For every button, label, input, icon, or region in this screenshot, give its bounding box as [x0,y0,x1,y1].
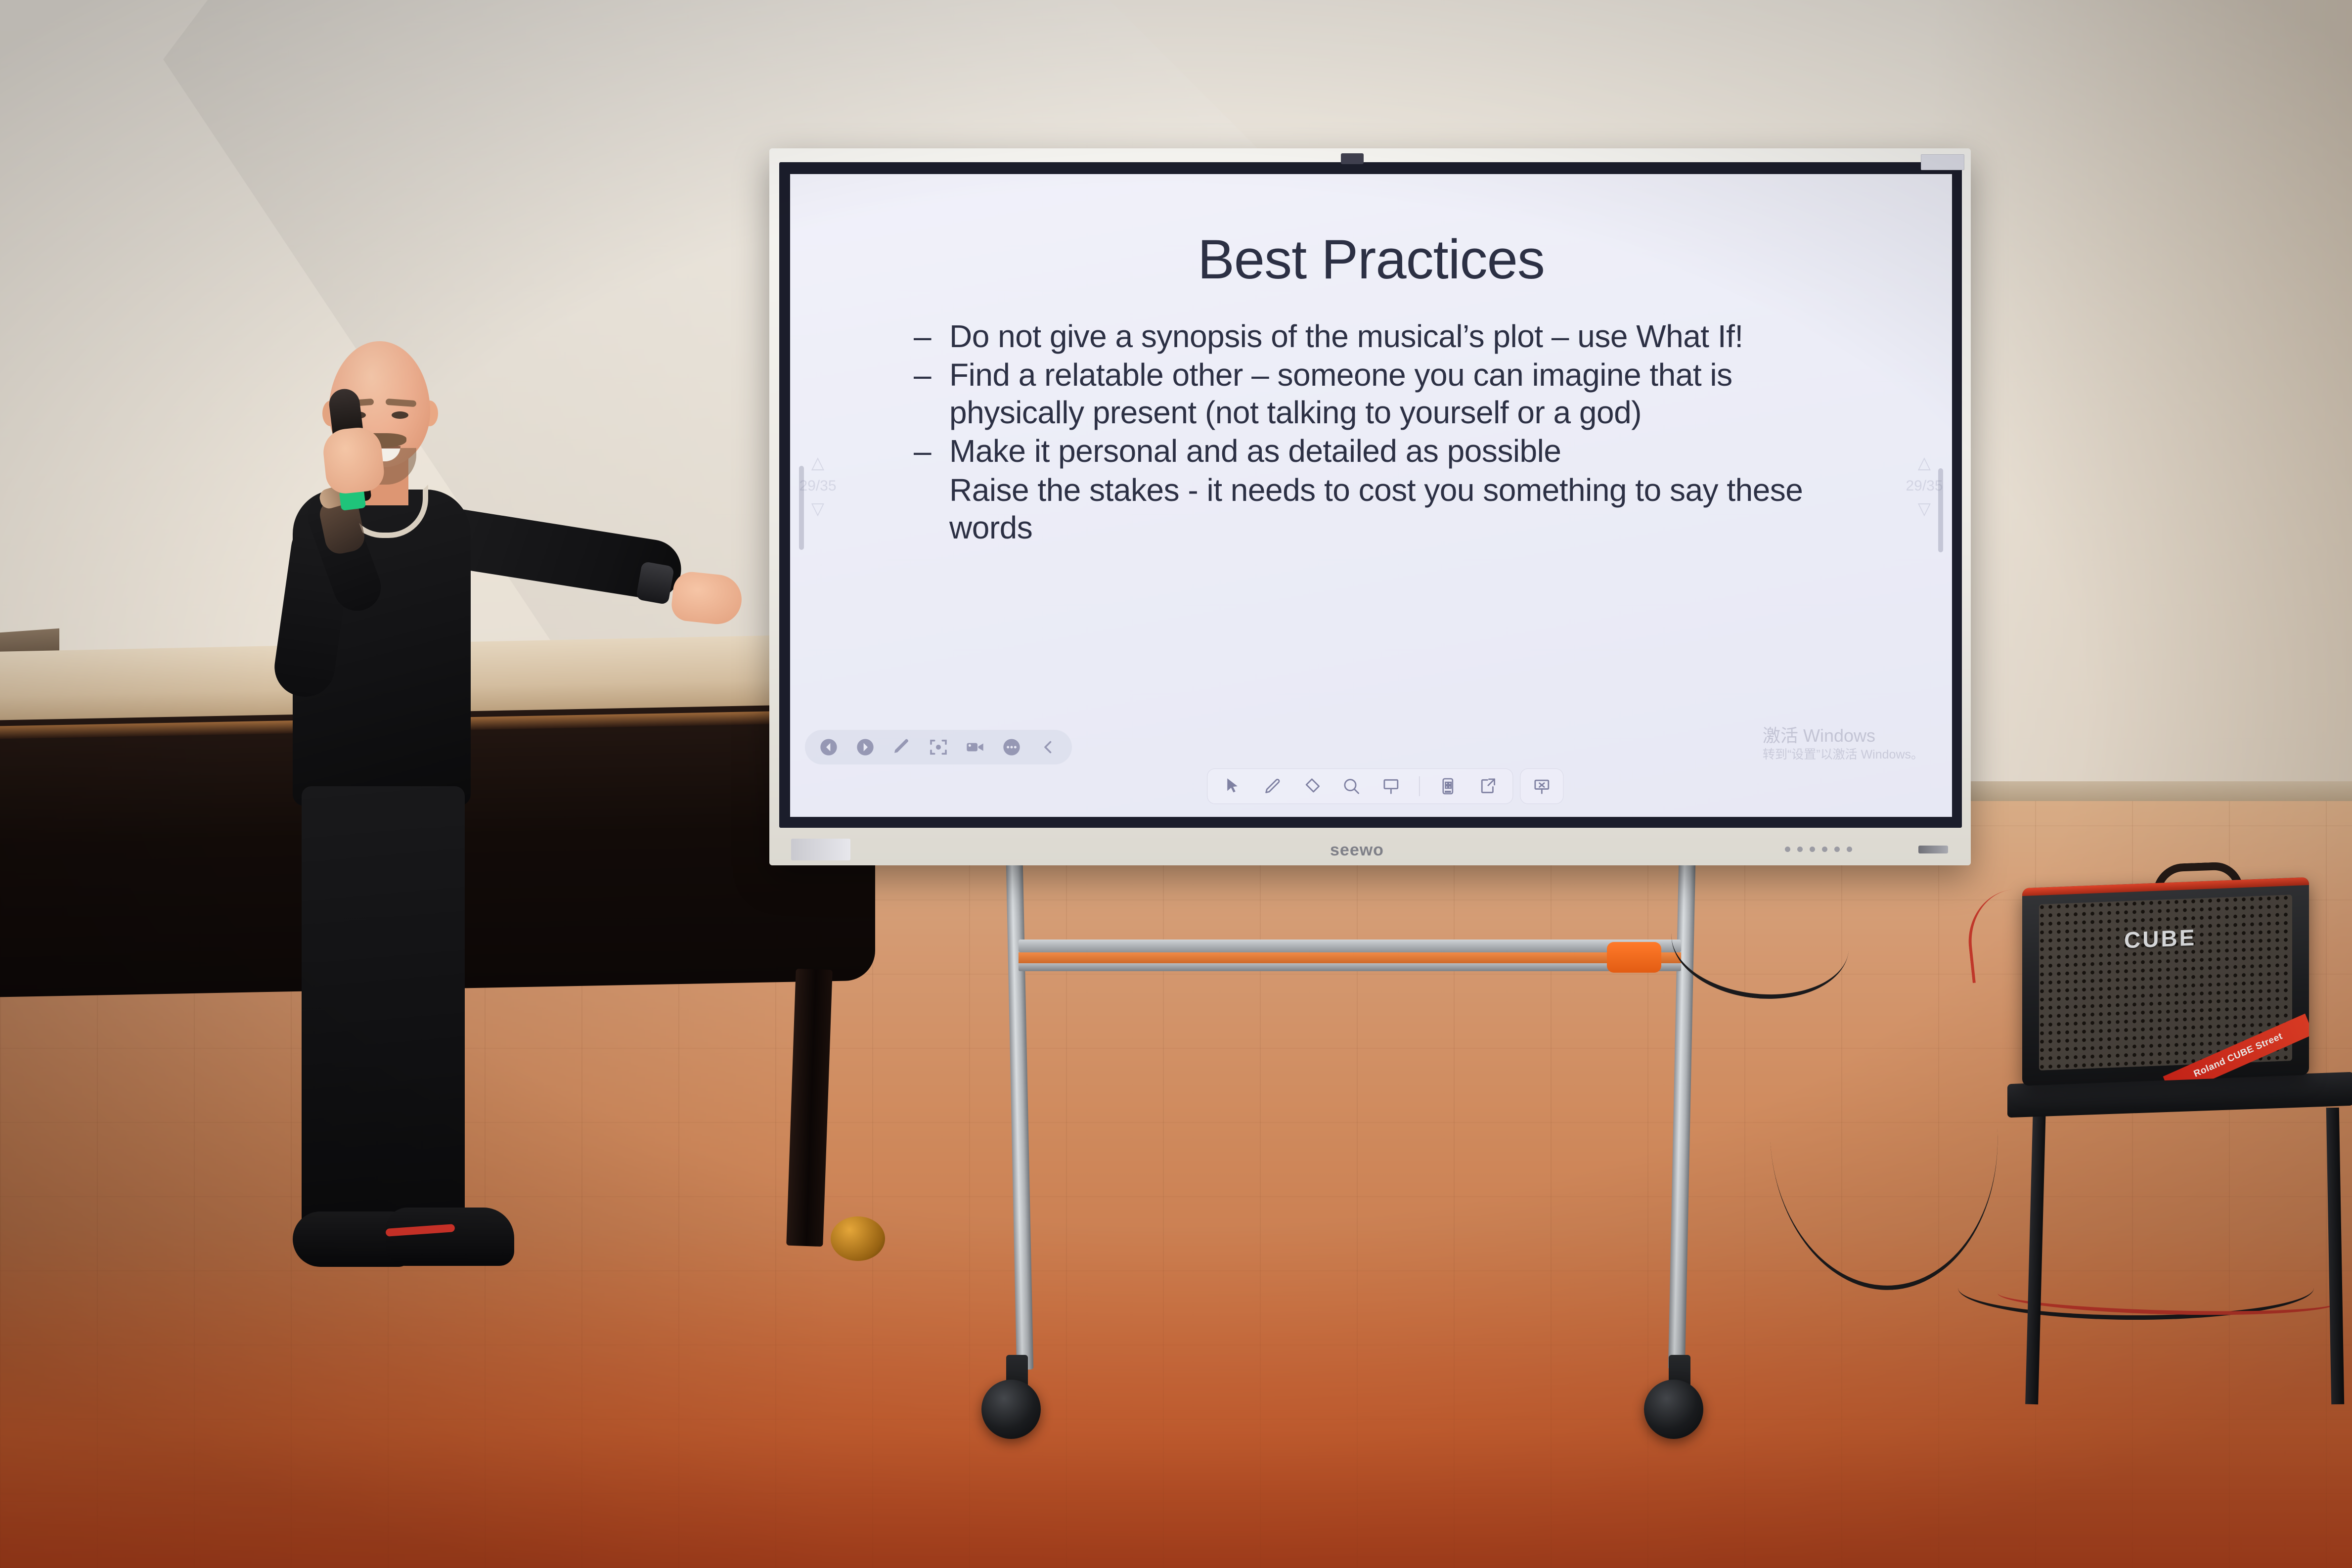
share-icon[interactable] [1476,775,1499,798]
bullet-text: Raise the stakes - it needs to cost you … [949,471,1843,546]
amp-brand-logo: CUBE [2124,924,2196,954]
stand-crossbar [1019,940,1681,952]
stand-caster-right [1644,1380,1703,1439]
windows-activation-watermark: 激活 Windows 转到“设置”以激活 Windows。 [1763,725,1923,762]
presenter-shoe-right [386,1208,514,1266]
pen-icon[interactable] [1261,775,1284,798]
page-indicator: 29/35 [1906,478,1943,494]
list-item: – Make it personal and as detailed as po… [914,432,1843,470]
guitar-amplifier: CUBE Roland CUBE Street [2022,877,2309,1086]
watermark-line-2: 转到“设置”以激活 Windows。 [1763,747,1923,763]
eraser-icon[interactable] [1300,775,1323,798]
more-icon[interactable] [1001,736,1022,758]
led-indicator [1834,847,1840,852]
brand-logo: seewo [1330,841,1384,860]
list-item: Raise the stakes - it needs to cost you … [914,471,1843,546]
next-icon[interactable] [854,736,876,758]
list-item: – Do not give a synopsis of the musical’… [914,317,1843,355]
led-indicator [1785,847,1790,852]
stand-crossbar-orange-strip [1019,952,1681,963]
presenter-eye-right [392,411,408,419]
page-title: Best Practices [790,227,1952,291]
stand-crossbar-lower [1019,963,1681,971]
screenshot-icon[interactable] [928,736,949,758]
list-item: – Find a relatable other – someone you c… [914,356,1843,431]
board-status-leds [1785,847,1852,852]
record-icon[interactable] [964,736,986,758]
magnifier-icon[interactable] [1340,775,1363,798]
presenter-left-hand [321,425,386,495]
led-indicator [1810,847,1815,852]
scrollbar-right[interactable] [1938,468,1943,552]
orange-cable-coil [1607,942,1661,973]
exit-presentation-button[interactable] [1520,768,1563,804]
led-indicator [1847,847,1852,852]
bullet-dash: – [914,432,949,470]
bullet-text: Make it personal and as detailed as poss… [949,432,1843,470]
wall-shadow [1928,0,2352,811]
device-sticker [1921,154,1964,170]
pen-icon[interactable] [891,736,913,758]
presenter [237,341,855,1488]
slide-bullet-list: – Do not give a synopsis of the musical’… [914,317,1843,547]
bullet-dash: – [914,317,949,355]
bullet-text: Do not give a synopsis of the musical’s … [949,317,1843,355]
whiteboard-screen[interactable]: Best Practices – Do not give a synopsis … [790,174,1952,817]
stand-caster-left [981,1380,1041,1439]
presenter-legs [302,786,465,1241]
qrcode-icon[interactable] [1436,775,1459,798]
watermark-line-1: 激活 Windows [1763,725,1923,746]
led-indicator [1797,847,1803,852]
exit-presentation-icon[interactable] [1530,775,1553,798]
bullet-text: Find a relatable other – someone you can… [949,356,1843,431]
presenter-right-hand [670,570,744,627]
presentation-icon[interactable] [1379,775,1402,798]
led-indicator [1822,847,1827,852]
annotation-toolbar[interactable] [1207,768,1513,804]
smartwatch [636,561,675,605]
cursor-icon[interactable] [1221,775,1244,798]
camera-icon [1341,153,1364,164]
annotation-toolbar-group[interactable] [1207,768,1563,804]
toolbar-divider [1419,776,1420,796]
collapse-icon[interactable] [1037,736,1059,758]
bullet-dash: – [914,356,949,394]
presentation-photo-scene: Best Practices – Do not give a synopsis … [0,0,2352,1568]
power-button[interactable] [1918,846,1948,853]
